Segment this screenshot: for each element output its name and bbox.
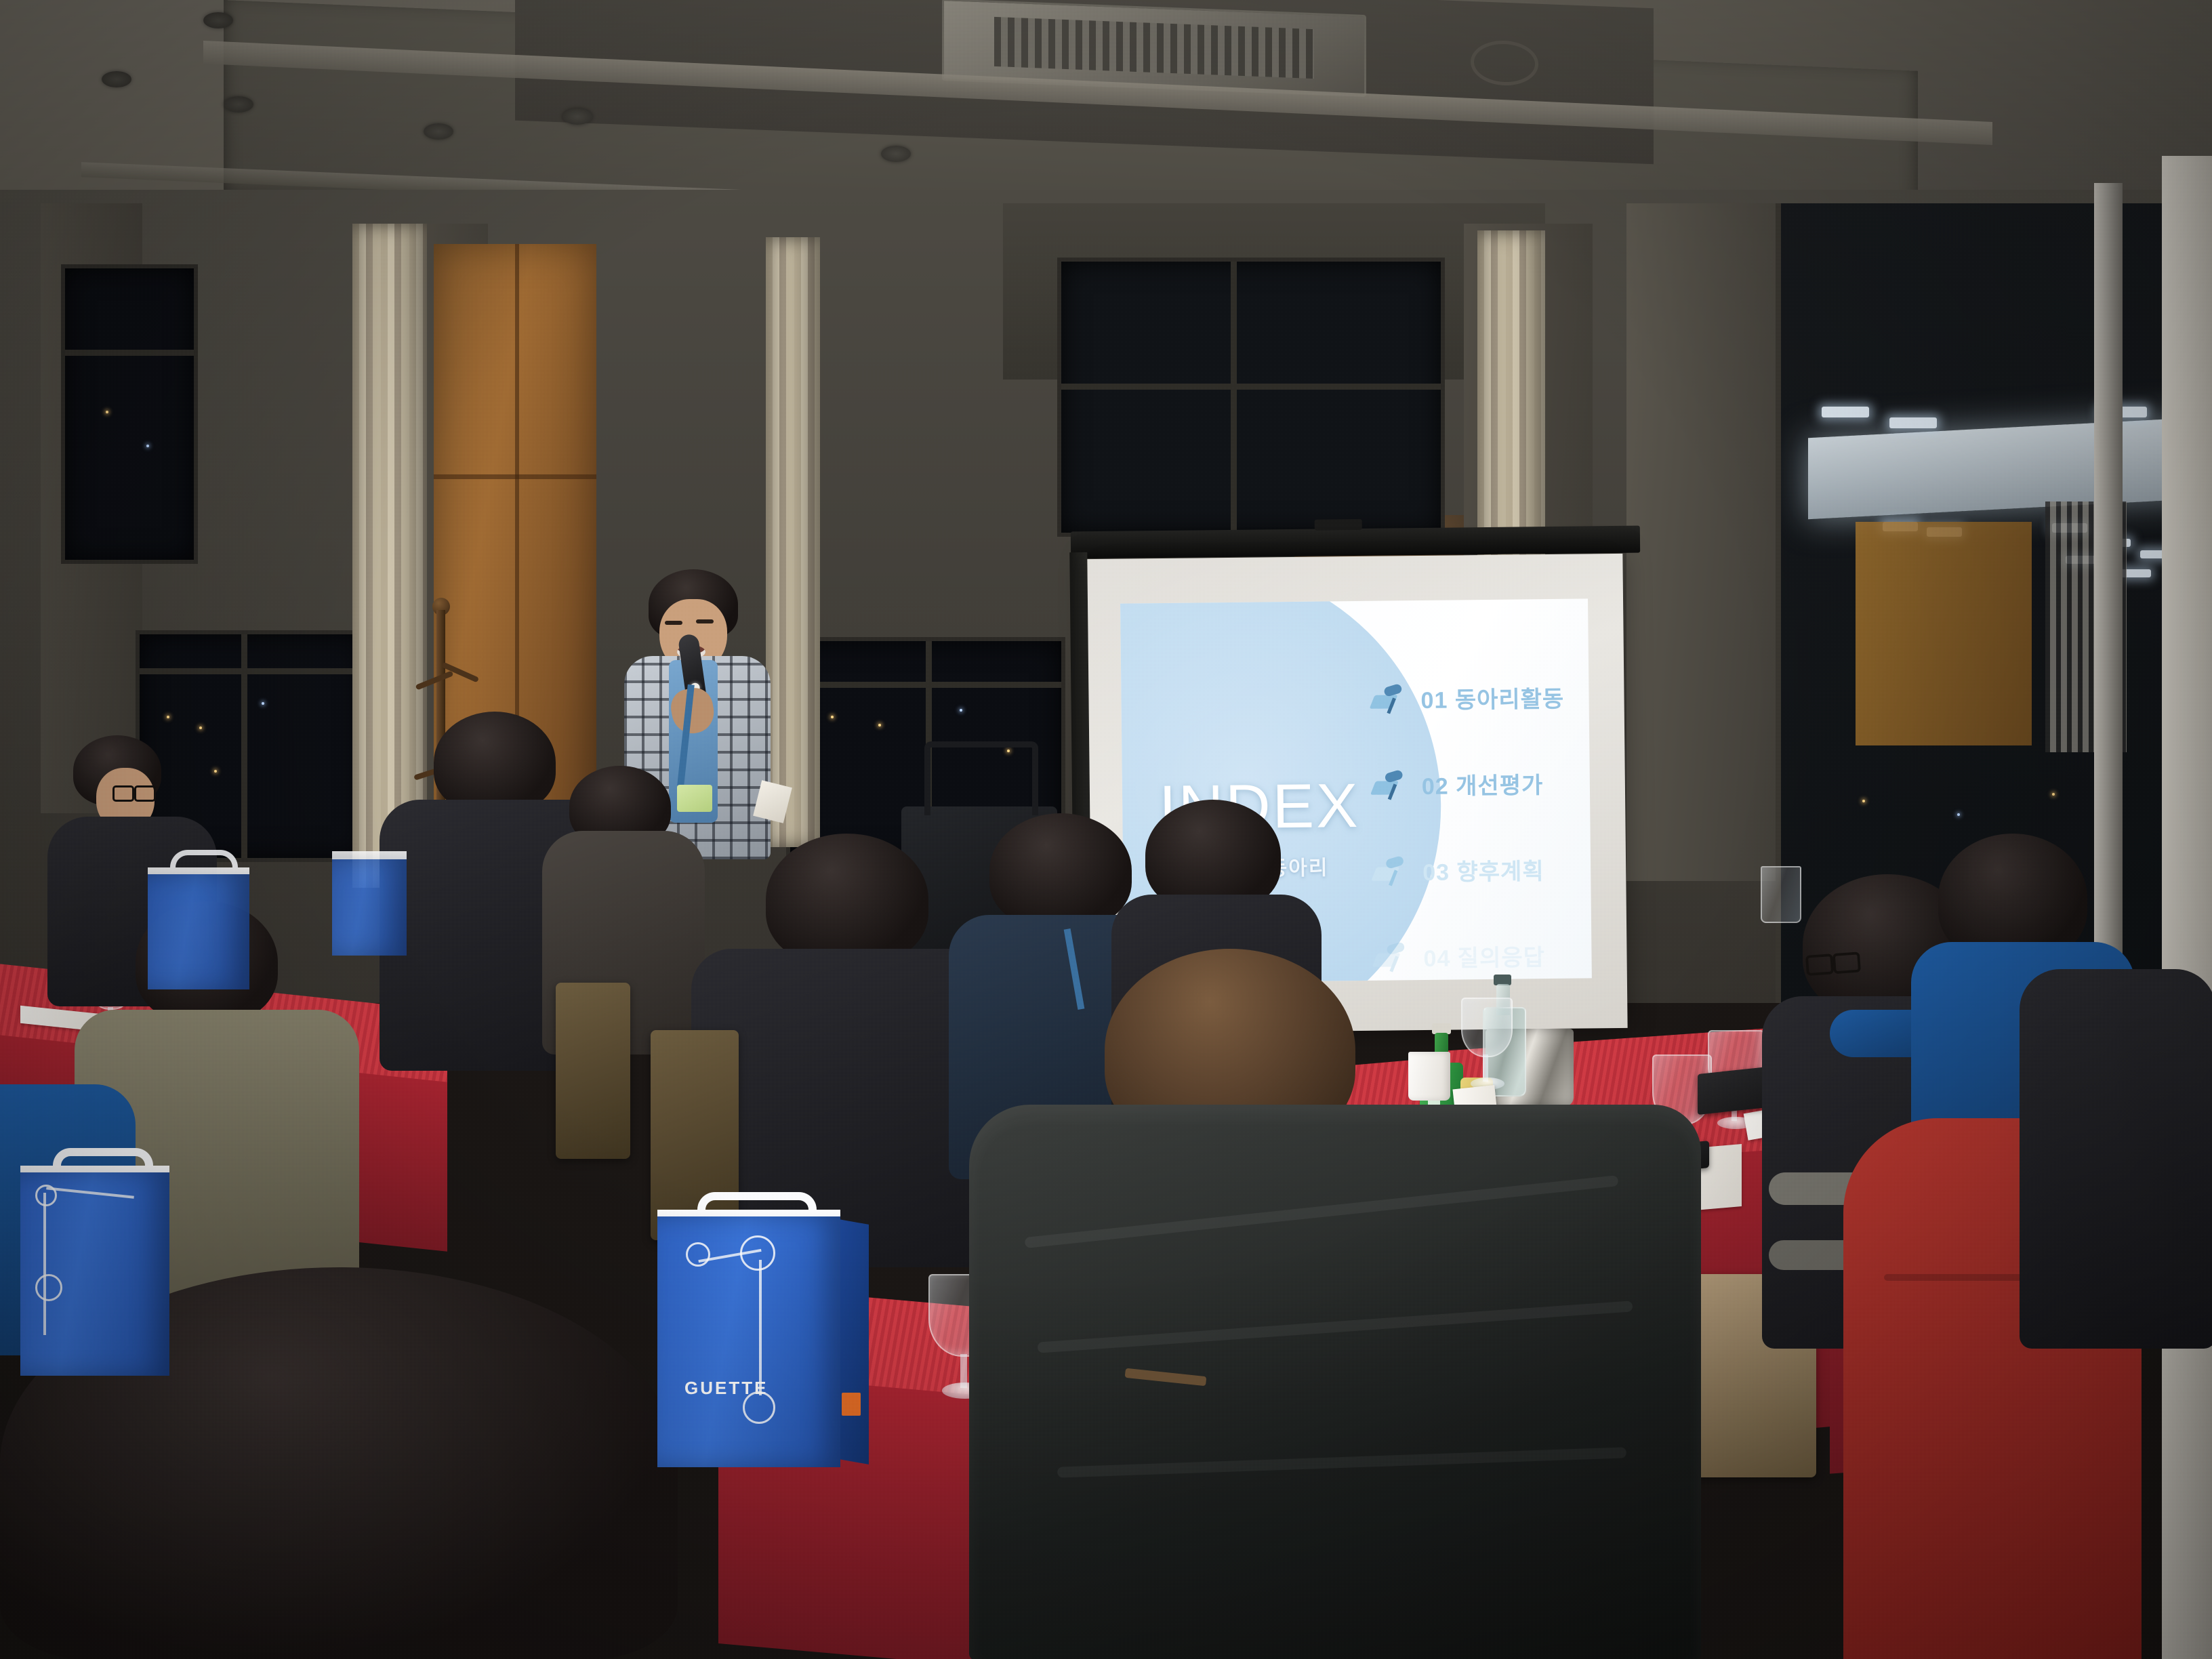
downlight-icon <box>424 123 453 140</box>
city-light <box>167 716 169 718</box>
gift-bag-swirl <box>35 1274 62 1301</box>
downlight-icon <box>224 96 253 112</box>
hair <box>989 813 1132 928</box>
city-light <box>262 702 264 705</box>
gift-bag-body <box>332 859 407 956</box>
city-light <box>146 445 149 447</box>
window-left-far <box>61 264 198 564</box>
club-activity-icon <box>1370 684 1408 714</box>
slide-index-label: 03 향후계획 <box>1422 853 1544 887</box>
corridor-ceiling-light <box>1822 407 1869 417</box>
roller-bar-bracket <box>1315 519 1362 531</box>
club-activity-icon <box>1372 770 1410 800</box>
city-light <box>199 726 202 729</box>
gift-bag-body <box>20 1172 169 1376</box>
wine-glass-bowl <box>1461 998 1513 1057</box>
window-mullion <box>790 682 1061 688</box>
downlight-icon <box>881 146 911 162</box>
chair-back <box>556 983 630 1159</box>
gift-bag-accent <box>842 1393 861 1416</box>
slide-index-item-2: 02 개선평가 <box>1372 766 1589 801</box>
gift-bag-far-back <box>332 847 407 956</box>
window-behind-screen <box>1057 258 1445 537</box>
wall-pillar-far-right <box>1626 203 1789 881</box>
gift-bag-center: GUETTE <box>657 1196 840 1467</box>
window-mullion <box>1061 384 1441 390</box>
slide-index-list: 01 동아리활동 02 개선평가 03 향후계획 04 질의응답 <box>1370 680 1591 983</box>
slide-index-label: 01 동아리활동 <box>1420 680 1564 715</box>
gift-bag-swirl <box>686 1242 710 1267</box>
hair <box>434 712 556 813</box>
downlight-icon <box>102 71 131 87</box>
hair <box>766 834 928 966</box>
attendee-foreground-puffy <box>969 1105 1701 1659</box>
window-mullion <box>241 634 247 858</box>
torso <box>2020 969 2212 1349</box>
window-mullion <box>1231 262 1237 533</box>
slide-index-item-3: 03 향후계획 <box>1372 852 1589 887</box>
slide-index-label: 04 질의응답 <box>1423 939 1545 973</box>
city-light <box>831 716 834 718</box>
city-light <box>106 411 108 413</box>
presenter-eyebrow <box>665 621 682 625</box>
gift-bag-side-panel <box>839 1219 869 1465</box>
slide-index-item-1: 01 동아리활동 <box>1370 680 1587 715</box>
corridor-ceiling <box>1808 416 2212 519</box>
window-mullion <box>140 668 363 674</box>
gift-bag-swirl-line <box>759 1260 762 1395</box>
gift-bag-left <box>20 1152 169 1376</box>
slide-index-label: 02 개선평가 <box>1422 766 1544 801</box>
downlight-icon <box>562 108 592 125</box>
downlight-icon <box>203 12 233 28</box>
city-light <box>1862 800 1865 802</box>
conference-room-photo: INDEX 99분 토론동아리 01 동아리활동 02 개선평가 03 향후계획 <box>0 0 2212 1659</box>
luggage-handle <box>924 741 1038 815</box>
corridor-ceiling-light <box>1889 417 1937 428</box>
gift-bag-body <box>148 874 249 989</box>
gift-bag-swirl-line <box>46 1187 134 1199</box>
club-activity-icon <box>1372 856 1410 886</box>
wine-glass <box>1461 998 1515 1099</box>
window-frame-post-outer <box>2162 156 2212 1659</box>
city-light <box>960 709 962 712</box>
window-mullion <box>65 350 194 356</box>
gift-bag-brand-text: GUETTE <box>684 1378 768 1399</box>
gift-bag-back <box>148 854 249 989</box>
city-light <box>878 724 881 726</box>
city-light <box>1957 813 1960 816</box>
gift-bag-body: GUETTE <box>657 1216 840 1467</box>
attendee-right-far <box>2020 969 2212 1349</box>
city-light <box>2052 793 2055 796</box>
corridor-wood-panel <box>1856 522 2032 745</box>
gift-bag-swirl-line <box>43 1193 46 1335</box>
presenter-eyebrow <box>696 619 714 623</box>
